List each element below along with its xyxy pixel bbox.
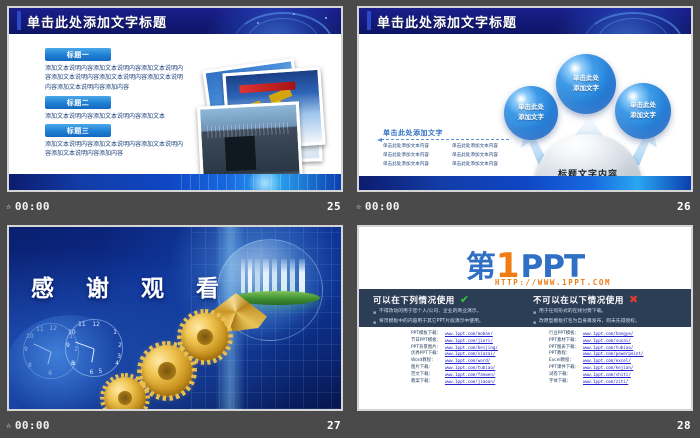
slide-26-bullet-list: 单击此处添加文本内容 单击此处添加文本内容 单击此处添加文本内容 单击此处添加文… bbox=[383, 144, 515, 169]
link-label: 行业PPT模板： bbox=[549, 331, 579, 338]
slide-cell-28[interactable]: 第 1 PPT HTTP://WWW.1PPT.COM 可以在下列情况使用 ✔ … bbox=[350, 219, 700, 438]
slide-25-statusbar: ☆ 00:00 25 bbox=[0, 194, 350, 219]
link-label: PPT课件下载： bbox=[549, 365, 579, 372]
slide-27[interactable]: 12 1 2 4 6 8 9 10 11 12 1 2 3 4 5 6 8 bbox=[7, 225, 343, 411]
sphere-2: 单击此处添加文字 bbox=[556, 54, 616, 114]
list-item: 单击此处添加文本内容 bbox=[383, 144, 446, 151]
star-icon: ☆ bbox=[6, 421, 12, 431]
sphere-1: 单击此处添加文字 bbox=[504, 86, 558, 140]
header-dot-icon bbox=[257, 22, 259, 24]
left-heading-underline bbox=[381, 139, 509, 140]
slide-26-timer: 00:00 bbox=[365, 200, 400, 213]
link-label: 范文下载： bbox=[411, 372, 441, 379]
forbidden-rule: 改原型模板打包为自身再发布，则未先得授权。 bbox=[539, 319, 640, 325]
forbidden-link-list[interactable]: 行业PPT模板：www.1ppt.com/hangye/ PPT素材下载：www… bbox=[549, 331, 689, 386]
slide-27-timer: 00:00 bbox=[15, 419, 50, 432]
link-url[interactable]: www.1ppt.com/sucai/ bbox=[583, 338, 689, 345]
clock-dial-front: 12 1 2 3 4 5 6 8 9 10 11 bbox=[65, 319, 123, 377]
link-label: 试卷下载： bbox=[549, 372, 579, 379]
header-dot-icon bbox=[325, 17, 327, 19]
slide-25-title: 单击此处添加文字标题 bbox=[27, 12, 167, 31]
check-icon: ✔ bbox=[460, 295, 469, 306]
link-label: 教案下载： bbox=[411, 379, 441, 386]
link-url[interactable]: www.1ppt.com/excel/ bbox=[583, 358, 689, 365]
slide-cell-26[interactable]: 单击此处添加文字标题 单击此处添加文字 单击此处添加文字 单击此处添加文字 bbox=[350, 0, 700, 219]
header-dot-icon bbox=[293, 13, 295, 15]
slide-27-page-number: 27 bbox=[327, 419, 341, 432]
list-item: 单击此处添加文本内容 bbox=[383, 162, 446, 169]
slide-28[interactable]: 第 1 PPT HTTP://WWW.1PPT.COM 可以在下列情况使用 ✔ … bbox=[357, 225, 693, 411]
link-url[interactable]: www.1ppt.com/tubiao/ bbox=[445, 365, 541, 372]
list-item: 单击此处添加文本内容 bbox=[452, 162, 515, 169]
thank-you-text: 感 谢 观 看 bbox=[31, 269, 231, 303]
link-url[interactable]: www.1ppt.com/xiazai/ bbox=[445, 351, 541, 358]
link-label: 字体下载： bbox=[549, 379, 579, 386]
link-label: PPT素材下载： bbox=[549, 338, 579, 345]
link-url[interactable]: www.1ppt.com/beijing/ bbox=[445, 345, 541, 352]
list-item: 单击此处添加文本内容 bbox=[452, 153, 515, 160]
link-label: 图片下载： bbox=[411, 365, 441, 372]
link-url[interactable]: www.1ppt.com/moban/ bbox=[445, 331, 541, 338]
link-url[interactable]: www.1ppt.com/fanwen/ bbox=[445, 372, 541, 379]
list-item: 单击此处添加文本内容 bbox=[383, 153, 446, 160]
slide-25-timer: 00:00 bbox=[15, 200, 50, 213]
link-label: 节日PPT模板： bbox=[411, 338, 441, 345]
section-body-2: 添加文本说明内容添加文本说明内容添加文本 bbox=[45, 112, 187, 121]
cross-icon: ✖ bbox=[629, 295, 638, 306]
allowed-rule: 不得改动的用于您个人/公司、企业的商业演示。 bbox=[379, 309, 481, 315]
slide-26[interactable]: 单击此处添加文字标题 单击此处添加文字 单击此处添加文字 单击此处添加文字 bbox=[357, 6, 693, 192]
link-url[interactable]: www.1ppt.com/hangye/ bbox=[583, 331, 689, 338]
link-url[interactable]: www.1ppt.com/ziti/ bbox=[583, 379, 689, 386]
link-url[interactable]: www.1ppt.com/shiti/ bbox=[583, 372, 689, 379]
header-arc-outer-icon bbox=[233, 12, 333, 34]
link-url[interactable]: www.1ppt.com/tubiao/ bbox=[583, 345, 689, 352]
slide-28-page-number: 28 bbox=[677, 419, 691, 432]
title-accent-bar bbox=[17, 11, 21, 30]
slide-28-statusbar: 28 bbox=[350, 413, 700, 438]
allowed-link-list[interactable]: PPT模板下载：www.1ppt.com/moban/ 节日PPT模板：www.… bbox=[411, 331, 541, 386]
slide-thumbnail-grid: 单击此处添加文字标题 标题一 添加文本说明内容添加文本说明内容添加文本说明内容添… bbox=[0, 0, 700, 438]
section-tag-1: 标题一 bbox=[45, 48, 111, 61]
slide-25-page-number: 25 bbox=[327, 200, 341, 213]
star-icon: ☆ bbox=[6, 202, 12, 212]
section-body-1: 添加文本说明内容添加文本说明内容添加文本说明内容添加文本说明内容添加文本说明内容… bbox=[45, 64, 187, 92]
slide-26-page-number: 26 bbox=[677, 200, 691, 213]
link-label: PPT模板下载： bbox=[411, 331, 441, 338]
forbidden-rule: 用于任何形式的在线付费下载。 bbox=[539, 309, 606, 315]
link-url[interactable]: www.1ppt.com/word/ bbox=[445, 358, 541, 365]
list-item: 单击此处添加文本内容 bbox=[452, 144, 515, 151]
photo-collage bbox=[189, 60, 319, 180]
allowed-heading: 可以在下列情况使用 bbox=[373, 294, 455, 306]
allowed-usage-column: 可以在下列情况使用 ✔ ■不得改动的用于您个人/公司、企业的商业演示。 ■将页模… bbox=[365, 289, 531, 331]
slide-25-text-content: 标题一 添加文本说明内容添加文本说明内容添加文本说明内容添加文本说明内容添加文本… bbox=[45, 48, 205, 158]
section-tag-3: 标题三 bbox=[45, 124, 111, 137]
slide-25-footer-band bbox=[9, 174, 341, 190]
link-url[interactable]: www.1ppt.com/jieri/ bbox=[445, 338, 541, 345]
logo-url: HTTP://WWW.1PPT.COM bbox=[495, 278, 611, 287]
star-icon: ☆ bbox=[356, 202, 362, 212]
forbidden-usage-column: 不可以在以下情况使用 ✖ ■用于任何形式的在线付费下载。 ■改原型模板打包为自身… bbox=[525, 289, 691, 331]
link-url[interactable]: www.1ppt.com/kejian/ bbox=[583, 365, 689, 372]
usage-terms-band: 可以在下列情况使用 ✔ ■不得改动的用于您个人/公司、企业的商业演示。 ■将页模… bbox=[359, 289, 691, 327]
slide-cell-25[interactable]: 单击此处添加文字标题 标题一 添加文本说明内容添加文本说明内容添加文本说明内容添… bbox=[0, 0, 350, 219]
gear-icon bbox=[181, 313, 229, 361]
slide-cell-27[interactable]: 12 1 2 4 6 8 9 10 11 12 1 2 3 4 5 6 8 bbox=[0, 219, 350, 438]
section-tag-2: 标题二 bbox=[45, 96, 111, 109]
slide-27-statusbar: ☆ 00:00 27 bbox=[0, 413, 350, 438]
slide-26-title: 单击此处添加文字标题 bbox=[377, 12, 517, 31]
header-arc-inner-icon bbox=[597, 18, 669, 34]
header-arc-outer-icon bbox=[583, 12, 683, 34]
forbidden-heading: 不可以在以下情况使用 bbox=[533, 294, 624, 306]
slide-26-left-heading: 单击此处添加文字 bbox=[383, 128, 443, 138]
link-url[interactable]: www.1ppt.com/jiaoan/ bbox=[445, 379, 541, 386]
sphere-3: 单击此处添加文字 bbox=[615, 83, 671, 139]
slide-25[interactable]: 单击此处添加文字标题 标题一 添加文本说明内容添加文本说明内容添加文本说明内容添… bbox=[7, 6, 343, 192]
allowed-rule: 将页模板中的内容用于其它PPT片段演示中使用。 bbox=[379, 319, 484, 325]
logo-prefix: 第 bbox=[466, 253, 495, 283]
title-accent-bar bbox=[367, 11, 371, 30]
city-skyline-graphic bbox=[241, 259, 311, 293]
link-url[interactable]: www.1ppt.com/powerpoint/ bbox=[583, 351, 689, 358]
header-arc-inner-icon bbox=[247, 18, 319, 34]
slide-26-statusbar: ☆ 00:00 26 bbox=[350, 194, 700, 219]
section-body-3: 添加文本说明内容添加文本说明内容添加文本说明内容添加文本说明内容添加内容 bbox=[45, 140, 187, 159]
slide-26-footer-band bbox=[359, 176, 691, 190]
